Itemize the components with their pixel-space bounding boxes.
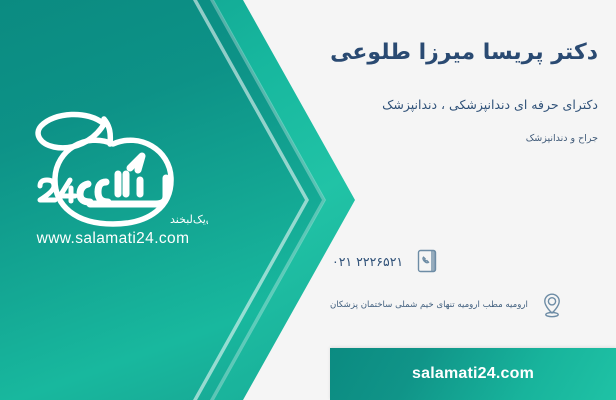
address-row[interactable]: ارومیه مطب ارومیه تنهای خیم شملی ساختمان… bbox=[330, 290, 602, 320]
map-pin-icon bbox=[537, 290, 567, 320]
footer-website: salamati24.com bbox=[412, 365, 534, 383]
salamati24-logo: به‌راحتی‌یک‌لبخند www.salamati24.com bbox=[18, 108, 208, 273]
doctor-specialty: دکترای حرفه ای دندانپزشکی ، دندانپزشک bbox=[330, 96, 598, 115]
svg-text:به‌راحتی‌یک‌لبخند: به‌راحتی‌یک‌لبخند bbox=[170, 213, 208, 226]
footer-bar[interactable]: salamati24.com bbox=[330, 348, 616, 400]
phone-row[interactable]: ۲۲۲۶۵۲۱ ۰۲۱ bbox=[332, 246, 602, 276]
clinic-address: ارومیه مطب ارومیه تنهای خیم شملی ساختمان… bbox=[330, 300, 528, 310]
phone-book-icon bbox=[412, 246, 442, 276]
logo-website-url: www.salamati24.com bbox=[18, 230, 208, 248]
doctor-subtitle: جراح و دندانپزشک bbox=[330, 132, 598, 146]
apple-outline-logo: به‌راحتی‌یک‌لبخند bbox=[18, 108, 208, 236]
profile-content: دکتر پریسا میرزا طلوعی دکترای حرفه ای دن… bbox=[330, 0, 616, 348]
doctor-name: دکتر پریسا میرزا طلوعی bbox=[330, 38, 598, 68]
phone-number: ۲۲۲۶۵۲۱ ۰۲۱ bbox=[332, 254, 403, 269]
doctor-profile-card: به‌راحتی‌یک‌لبخند www.salamati24.com دکت… bbox=[0, 0, 616, 400]
